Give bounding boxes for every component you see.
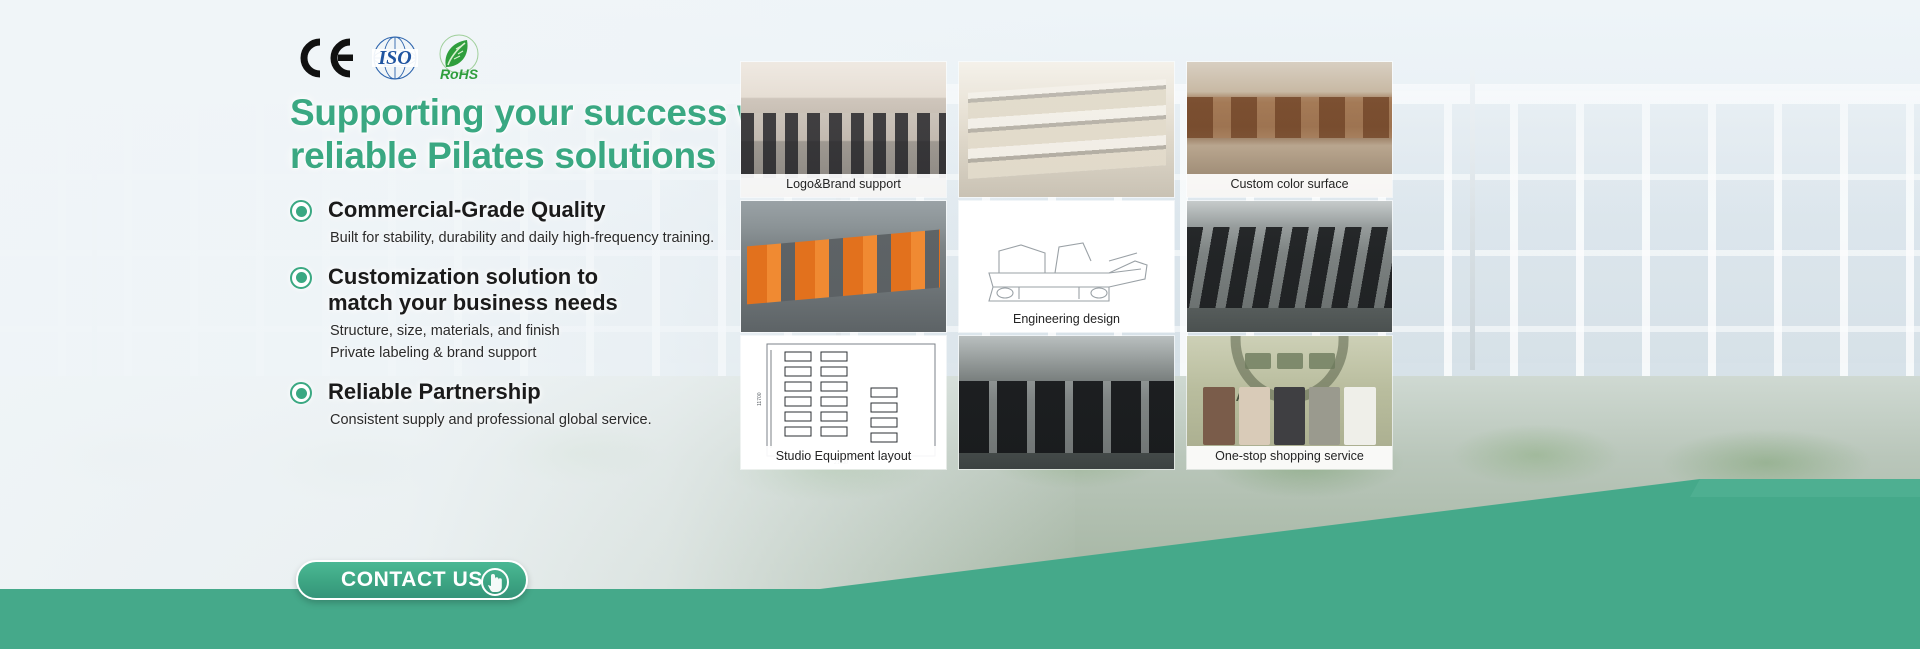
bullet-ring-icon [290, 382, 312, 404]
gallery-cell[interactable]: Logo&Brand support [741, 62, 946, 197]
contact-us-button[interactable]: CONTACT US [296, 560, 528, 600]
feature-item: Customization solution to match your bus… [290, 264, 750, 365]
contact-us-label: CONTACT US [341, 568, 483, 592]
feature-description-line: Consistent supply and professional globa… [330, 410, 750, 432]
gallery-caption: Studio Equipment layout [741, 446, 946, 469]
gallery-cell[interactable]: Engineering design [959, 201, 1174, 332]
svg-text:11700: 11700 [757, 392, 763, 406]
swatch-color [1309, 387, 1340, 446]
feature-description-line: Private labeling & brand support [330, 343, 750, 365]
gallery-cell[interactable] [1187, 201, 1392, 332]
feature-description: Consistent supply and professional globa… [330, 410, 750, 432]
left-content-column: ISO RoHS Supporting your success with re… [290, 30, 750, 432]
headline-line-2: reliable Pilates solutions [290, 135, 750, 178]
swatch-color [1274, 387, 1305, 446]
ce-mark-icon [294, 36, 356, 80]
swatch-chip-row [1220, 347, 1359, 376]
svg-text:RoHS: RoHS [440, 66, 479, 82]
gallery-cell[interactable] [959, 62, 1174, 197]
gallery-cell[interactable]: 11700 21500 Studio Equipment layout [741, 336, 946, 469]
hand-cursor-icon [480, 566, 510, 598]
feature-description: Built for stability, durability and dail… [330, 228, 750, 250]
gallery-photo [741, 201, 946, 332]
gallery-photo [959, 336, 1174, 469]
feature-title: Customization solution to match your bus… [328, 264, 658, 316]
headline-line-1: Supporting your success with [290, 92, 810, 133]
feature-list: Commercial-Grade Quality Built for stabi… [290, 197, 750, 432]
bullet-ring-icon [290, 267, 312, 289]
gallery-caption: Engineering design [959, 309, 1174, 332]
product-gallery-grid: Logo&Brand support Custom color surface [741, 62, 1392, 469]
gallery-caption: Logo&Brand support [741, 174, 946, 197]
feature-item: Reliable Partnership Consistent supply a… [290, 379, 750, 432]
swatch-chip [1245, 353, 1271, 369]
feature-description: Structure, size, materials, and finish P… [330, 321, 750, 366]
feature-item: Commercial-Grade Quality Built for stabi… [290, 197, 750, 250]
gallery-caption: One-stop shopping service [1187, 446, 1392, 469]
feature-description-line: Built for stability, durability and dail… [330, 228, 750, 250]
swatch-color [1344, 387, 1375, 446]
gallery-cell[interactable] [741, 201, 946, 332]
feature-title: Reliable Partnership [328, 379, 750, 405]
swatch-color [1203, 387, 1234, 446]
feature-description-line: Structure, size, materials, and finish [330, 321, 750, 343]
page-title: Supporting your success with reliable Pi… [290, 92, 750, 177]
rohs-badge-icon: RoHS [434, 32, 484, 84]
certification-badges: ISO RoHS [290, 30, 750, 86]
gallery-photo [959, 62, 1174, 197]
swatch-color-row [1203, 387, 1375, 446]
gallery-cell[interactable] [959, 336, 1174, 469]
swatch-chip [1309, 353, 1335, 369]
swatch-chip [1277, 353, 1303, 369]
gallery-photo [1187, 201, 1392, 332]
gallery-cell[interactable]: Custom color surface [1187, 62, 1392, 197]
bullet-ring-icon [290, 200, 312, 222]
gallery-cell[interactable]: TULA One-stop shopping service [1187, 336, 1392, 469]
iso-badge-icon: ISO [370, 33, 420, 83]
feature-title: Commercial-Grade Quality [328, 197, 750, 223]
gallery-caption: Custom color surface [1187, 174, 1392, 197]
svg-text:ISO: ISO [377, 47, 411, 69]
swatch-color [1239, 387, 1270, 446]
